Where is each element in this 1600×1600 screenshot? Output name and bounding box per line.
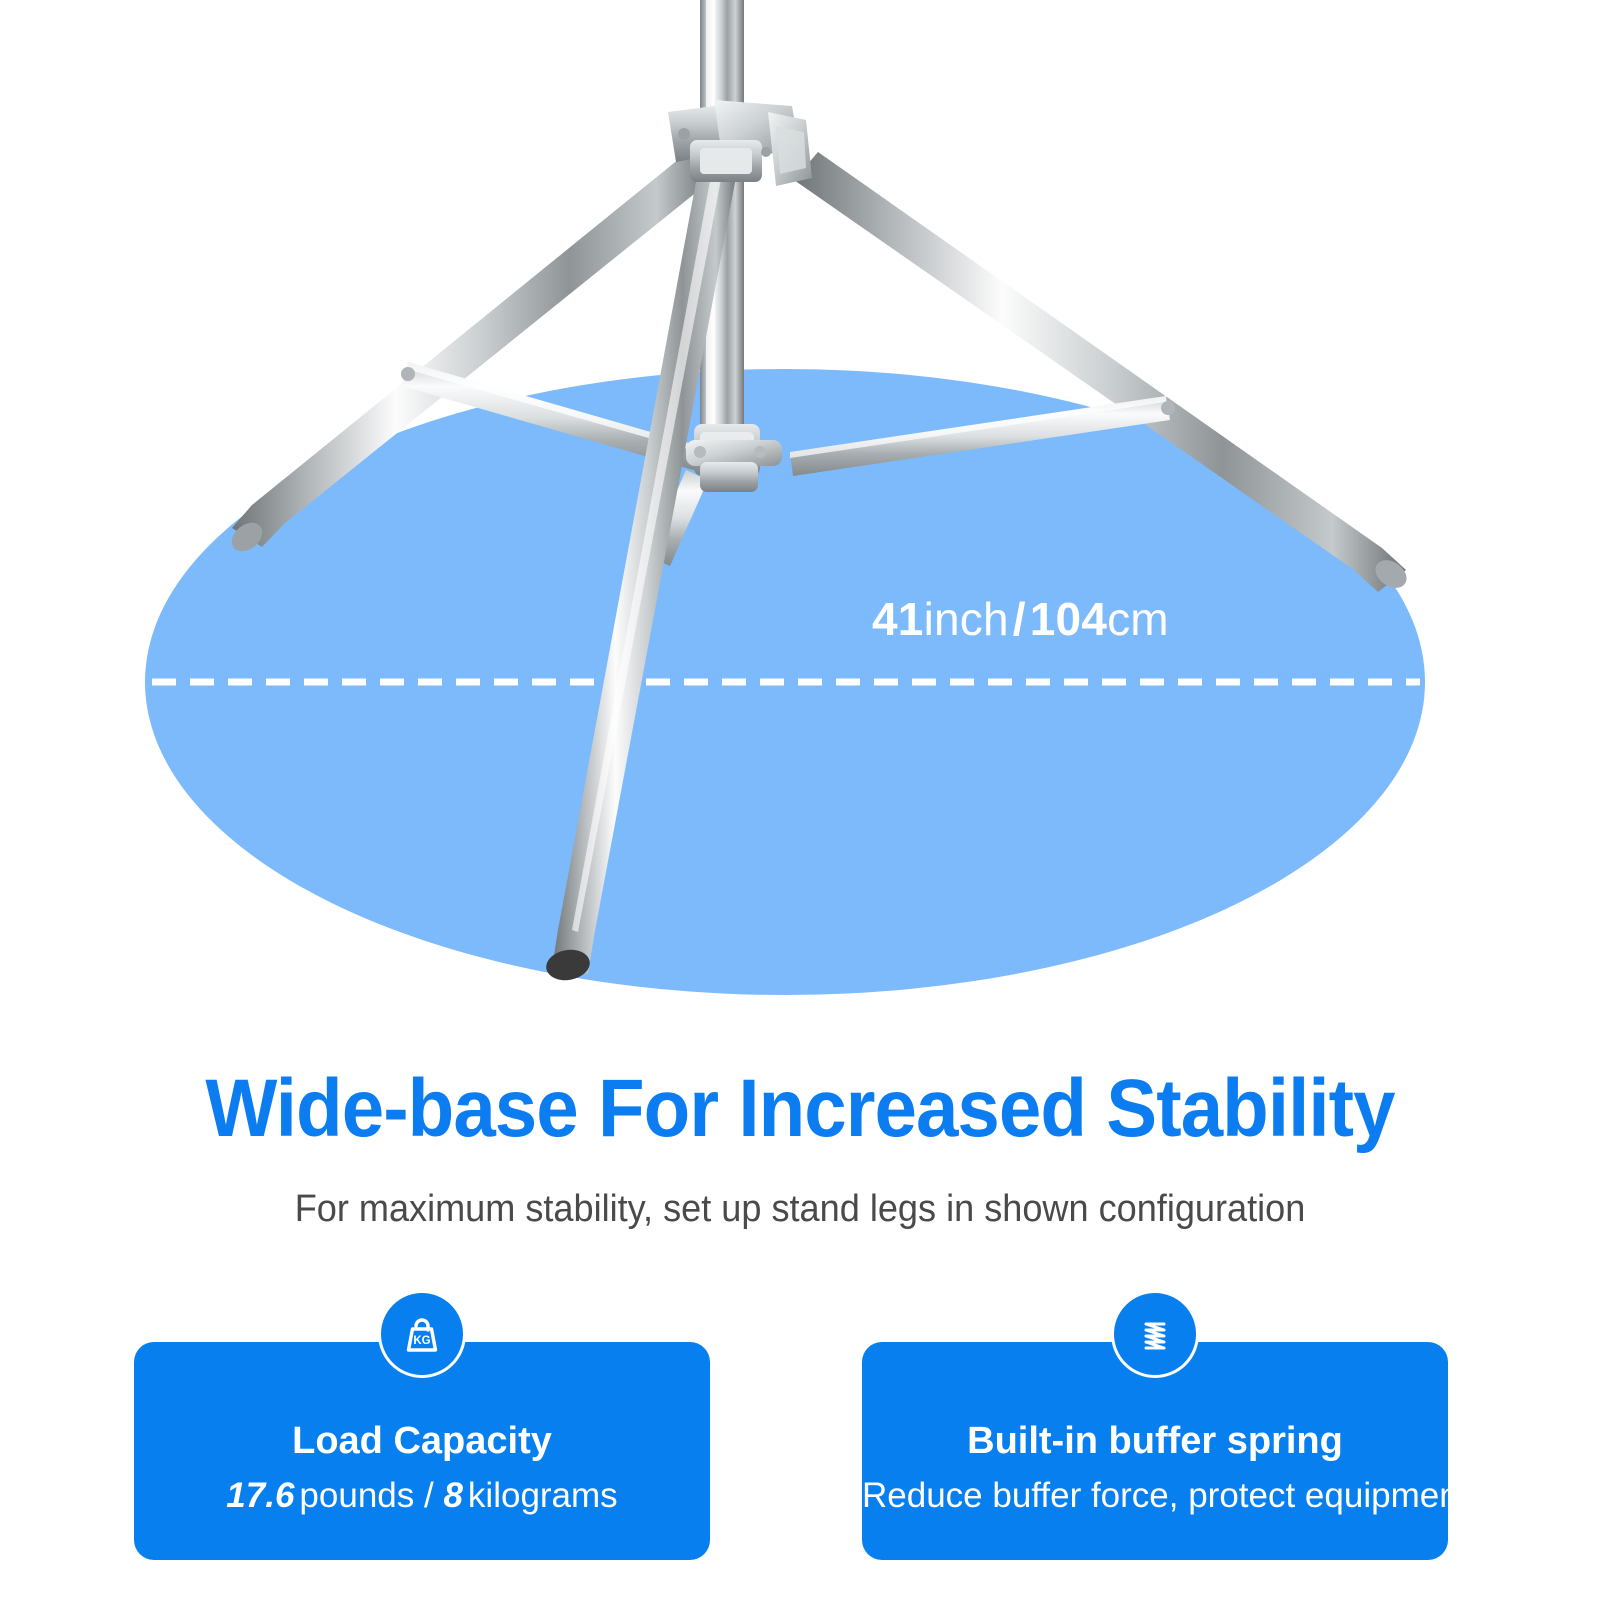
load-pounds-value: 17.6 [226, 1476, 294, 1515]
card-subtitle-buffer-spring: Reduce buffer force, protect equipment [862, 1476, 1448, 1516]
spring-coil-icon [1111, 1290, 1199, 1378]
page-title: Wide-base For Increased Stability [56, 1062, 1544, 1156]
diameter-inch-unit: inch [924, 593, 1009, 645]
svg-text:KG: KG [413, 1335, 430, 1347]
card-value-load-capacity: 17.6pounds / 8kilograms [134, 1476, 710, 1516]
load-kilograms-value: 8 [443, 1476, 462, 1515]
diameter-cm-unit: cm [1107, 593, 1169, 645]
weight-kg-icon: KG [378, 1290, 466, 1378]
card-title-buffer-spring: Built-in buffer spring [862, 1420, 1448, 1463]
load-kilograms-unit: kilograms [463, 1476, 618, 1515]
diameter-separator: / [1009, 593, 1030, 645]
feature-card-load-capacity: KG Load Capacity 17.6pounds / 8kilograms [134, 1342, 710, 1560]
diameter-inch-value: 41 [872, 593, 924, 645]
diameter-cm-value: 104 [1030, 593, 1107, 645]
load-pounds-unit: pounds [294, 1476, 414, 1515]
base-diameter-label: 41inch/104cm [872, 592, 1169, 646]
feature-card-buffer-spring: Built-in buffer spring Reduce buffer for… [862, 1342, 1448, 1560]
product-hero-image: 41inch/104cm [0, 0, 1600, 1040]
card-title-load-capacity: Load Capacity [134, 1420, 710, 1463]
load-separator: / [424, 1476, 434, 1515]
page-subtitle: For maximum stability, set up stand legs… [40, 1188, 1560, 1231]
